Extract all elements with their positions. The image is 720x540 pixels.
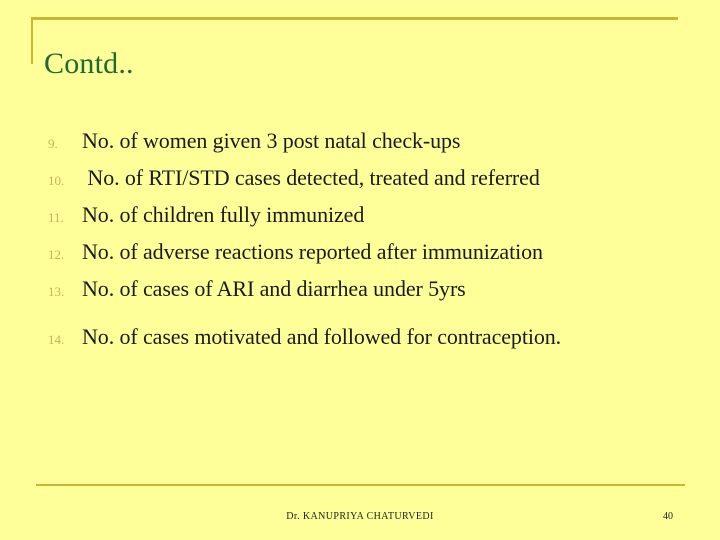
list-item-text: No. of adverse reactions reported after … bbox=[82, 239, 543, 265]
footer-page-number: 40 bbox=[650, 511, 686, 522]
left-accent-rule bbox=[31, 17, 33, 64]
list-item-text: No. of RTI/STD cases detected, treated a… bbox=[82, 165, 540, 191]
list-item: 10. No. of RTI/STD cases detected, treat… bbox=[44, 165, 694, 202]
list-item-number: 9. bbox=[44, 136, 82, 152]
footer-author: Dr. KANUPRIYA CHATURVEDI bbox=[0, 511, 720, 522]
list-item-number: 11. bbox=[44, 210, 82, 226]
list-item: 12. No. of adverse reactions reported af… bbox=[44, 239, 694, 276]
list-item-text: No. of cases of ARI and diarrhea under 5… bbox=[82, 276, 466, 302]
list-item-number: 14. bbox=[44, 332, 82, 348]
list-item-text: No. of children fully immunized bbox=[82, 202, 364, 228]
list-item-number: 13. bbox=[44, 284, 82, 300]
list-item-text: No. of cases motivated and followed for … bbox=[82, 324, 561, 350]
list-item-number: 10. bbox=[44, 173, 82, 189]
numbered-list: 9. No. of women given 3 post natal check… bbox=[44, 128, 694, 361]
list-item-text: No. of women given 3 post natal check-up… bbox=[82, 128, 460, 154]
list-item: 11. No. of children fully immunized bbox=[44, 202, 694, 239]
list-item-number: 12. bbox=[44, 247, 82, 263]
list-item: 9. No. of women given 3 post natal check… bbox=[44, 128, 694, 165]
footer-divider-rule bbox=[36, 484, 685, 486]
slide-title: Contd.. bbox=[44, 46, 134, 82]
list-item: 14. No. of cases motivated and followed … bbox=[44, 324, 694, 361]
list-item: 13. No. of cases of ARI and diarrhea und… bbox=[44, 276, 694, 313]
top-accent-rule bbox=[31, 17, 678, 20]
slide-canvas: Contd.. 9. No. of women given 3 post nat… bbox=[0, 0, 720, 540]
